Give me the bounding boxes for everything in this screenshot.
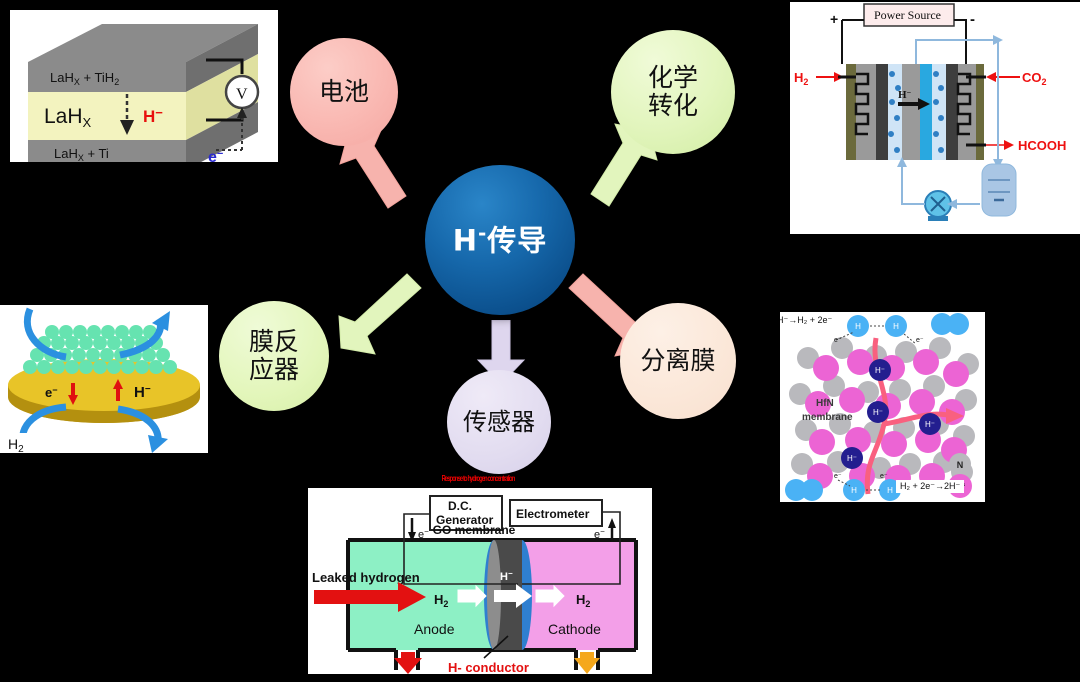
- battery-voltmeter-label: V: [236, 86, 248, 103]
- hfn-electron-label: e⁻: [880, 473, 888, 480]
- power-source-label: Power Source: [874, 8, 941, 22]
- panel-membrane-reactor: e− H− H2: [0, 305, 208, 453]
- sensor-title: Response to hydrogen concentration: [357, 474, 599, 483]
- diagram-canvas: H-传导 电池 化学 转化 膜反 应器 分离膜 传感器: [0, 0, 1080, 682]
- battery-top-layer-label: LaHX + TiH2: [50, 70, 119, 87]
- hfn-electron-label: e⁻: [834, 337, 842, 344]
- hfn-equation-top: 2H⁻→H₂ + 2e⁻: [780, 314, 836, 327]
- terminal-minus-label: -: [970, 11, 975, 28]
- hub-label: 传导: [487, 224, 547, 258]
- battery-electron-label: e−: [208, 148, 223, 162]
- node-sensor-label: 传感器: [463, 409, 535, 436]
- panel-electro-cell: Power Source + -: [790, 2, 1080, 234]
- inlet-co2-label: CO2: [1022, 70, 1047, 87]
- hfn-electron-label: e⁻: [916, 337, 924, 344]
- node-separation-membrane[interactable]: 分离膜: [620, 303, 736, 419]
- panel-sensor-cell: D.C. Generator Electrometer e− e− GO mem…: [308, 488, 652, 674]
- hfn-equation-bottom: H₂ + 2e⁻→2H⁻: [896, 480, 964, 493]
- node-memreact-line1: 膜反: [249, 328, 299, 356]
- terminal-plus-label: +: [830, 11, 838, 27]
- node-sensor[interactable]: 传感器: [447, 370, 551, 474]
- node-chemical-conversion[interactable]: 化学 转化: [611, 30, 735, 154]
- panel-battery-cell: LaHX + TiH2 LaHX LaHX + Ti H− V e−: [10, 10, 278, 162]
- hfn-h-site-label: H⁻: [847, 454, 857, 463]
- hfn-electron-label: e⁻: [834, 473, 842, 480]
- hfn-h-site-label: H⁻: [873, 408, 883, 417]
- inlet-h2-label: H2: [794, 70, 808, 87]
- node-memreact-line2: 应器: [249, 356, 299, 384]
- node-sepmem-label: 分离膜: [640, 347, 715, 375]
- hfn-h-site-label: H⁻: [925, 420, 935, 429]
- product-hcooh-label: HCOOH: [1018, 138, 1066, 153]
- sensor-leaked-label: Leaked hydrogen: [312, 570, 420, 585]
- node-chem-line1: 化学: [648, 64, 698, 92]
- hub-prefix: H: [453, 224, 478, 258]
- node-chem-line2: 转化: [648, 92, 698, 120]
- node-battery-label: 电池: [319, 78, 369, 106]
- hfn-h-site-label: H⁻: [875, 366, 885, 375]
- hub-node[interactable]: H-传导: [425, 165, 575, 315]
- hfn-legend-n: N: [957, 460, 964, 470]
- node-battery[interactable]: 电池: [290, 38, 398, 146]
- node-membrane-reactor[interactable]: 膜反 应器: [219, 301, 329, 411]
- sensor-generator-line1: D.C.: [448, 499, 472, 513]
- panel-hfn-membrane: H⁻ H⁻ H⁻ H⁻ HH HH e: [780, 312, 985, 502]
- sensor-cathode-label: Cathode: [548, 621, 601, 637]
- hfn-membrane-label-1: HfN: [816, 398, 834, 409]
- svg-text:H: H: [887, 486, 893, 495]
- hub-sup: -: [478, 221, 487, 245]
- svg-text:H: H: [851, 486, 857, 495]
- sensor-anode-label: Anode: [414, 621, 455, 637]
- svg-text:H: H: [893, 322, 899, 331]
- arrow-to-memreact: [325, 262, 445, 372]
- sensor-conductor-label: H- conductor: [448, 660, 529, 674]
- sensor-go-membrane-label: GO membrane: [433, 523, 516, 537]
- hfn-membrane-label-2: membrane: [802, 412, 853, 423]
- sensor-electrometer-label: Electrometer: [516, 507, 590, 521]
- svg-text:H: H: [855, 322, 861, 331]
